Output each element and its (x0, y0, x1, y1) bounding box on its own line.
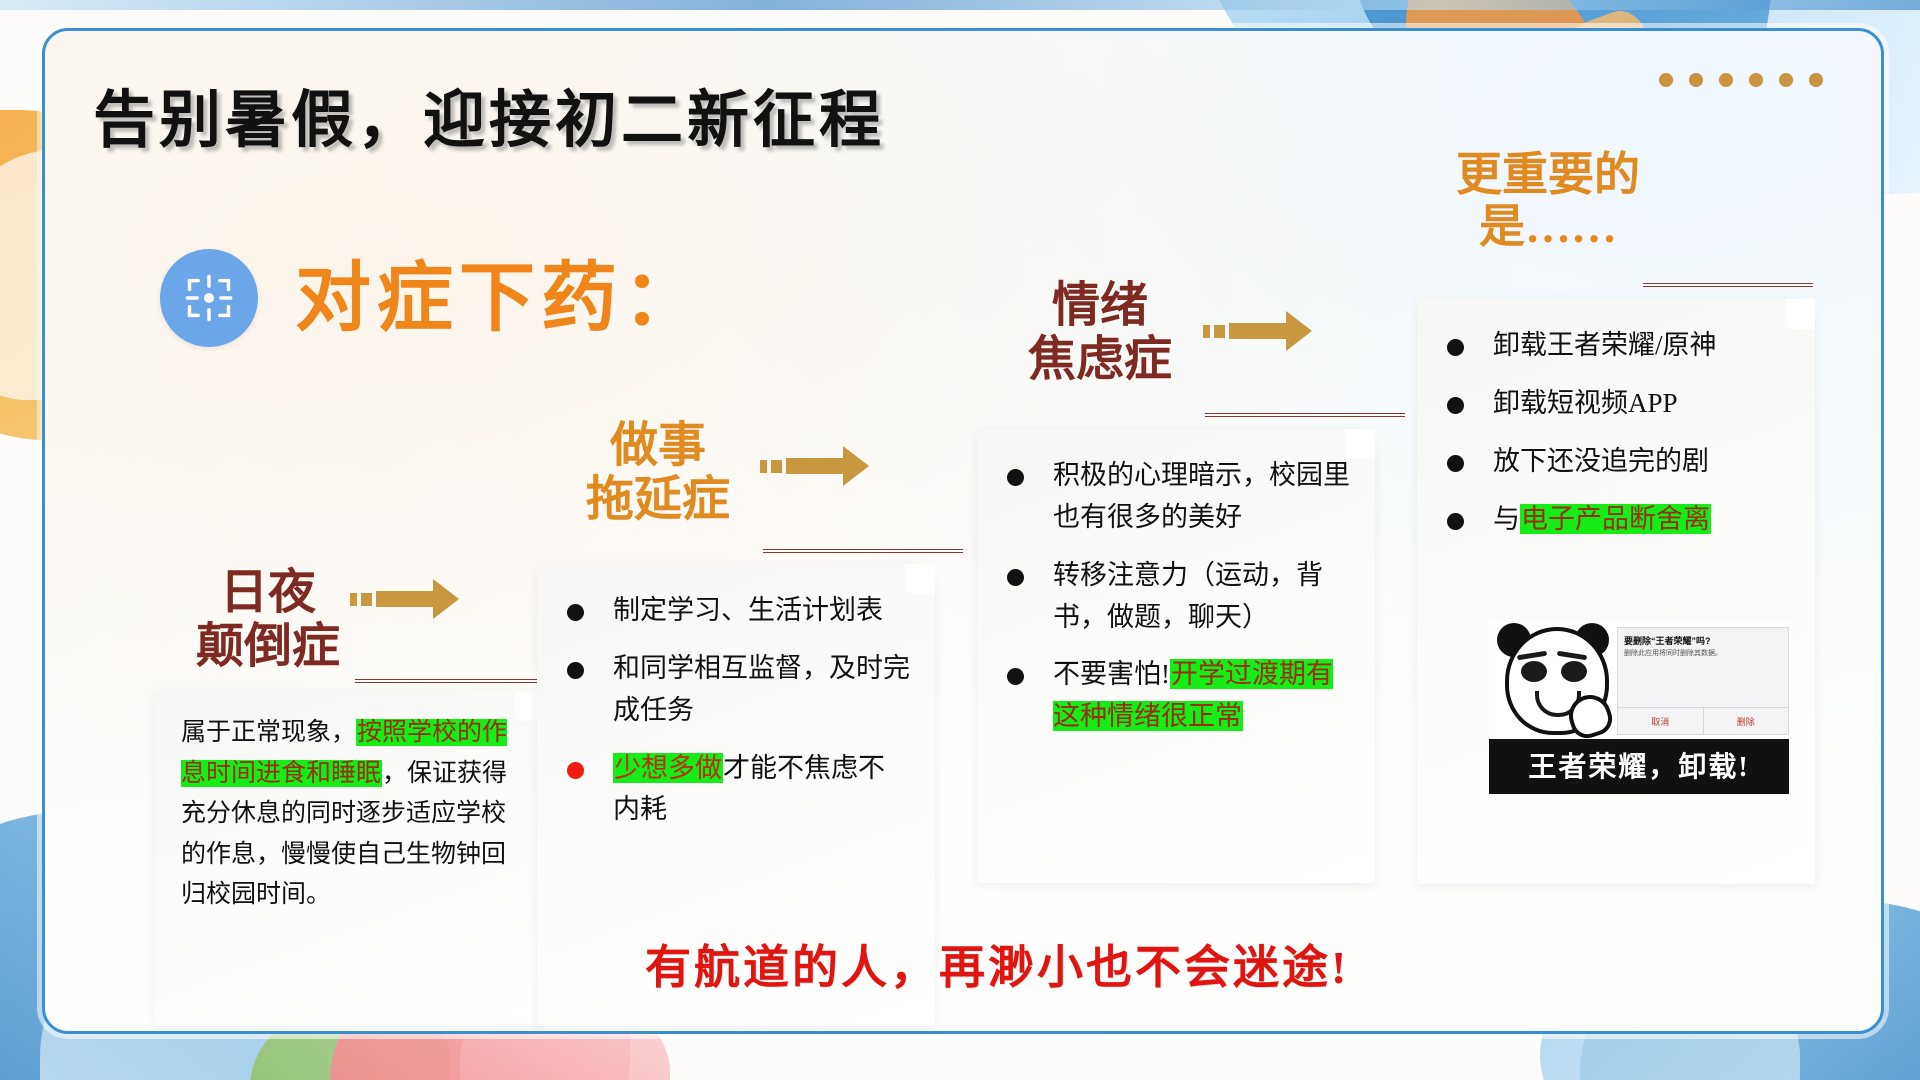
list-item: 制定学习、生活计划表 (559, 590, 911, 632)
card-4-bullet-1-text: 卸载王者荣耀/原神 (1493, 330, 1717, 360)
focus-target-icon (160, 249, 258, 347)
list-item: 转移注意力（运动，背书，做题，聊天） (999, 555, 1351, 639)
dot-icon (1689, 73, 1703, 87)
card-4-bullet-4-text: 与 (1493, 504, 1520, 534)
delete-button[interactable]: 删除 (1703, 708, 1789, 734)
panda-face-icon (1495, 621, 1611, 739)
card-3-bullet-list: 积极的心理暗示，校园里也有很多的美好 转移注意力（运动，背书，做题，聊天） 不要… (999, 455, 1351, 754)
card-2-bullet-2-text: 和同学相互监督，及时完成任务 (613, 653, 910, 725)
panda-meme-image: 要删除“王者荣耀”吗? 删除此应用将同时删除其数据。 取消 删除 王者荣耀，卸载… (1489, 621, 1789, 786)
card-2-heading-line1: 做事 (543, 419, 773, 473)
card-3-rule (1205, 413, 1405, 417)
card-4-heading: 更重要的 是…… (1423, 149, 1673, 252)
list-item: 和同学相互监督，及时完成任务 (559, 648, 911, 732)
section-heading: 对症下药： (295, 236, 705, 346)
page-title: 告别暑假，迎接初二新征程 (93, 69, 885, 159)
card-2-bullet-3-highlight: 少想多做 (613, 753, 723, 783)
delete-dialog: 要删除“王者荣耀”吗? 删除此应用将同时删除其数据。 取消 删除 (1617, 627, 1789, 735)
card-2-bullet-1-text: 制定学习、生活计划表 (613, 595, 883, 625)
card-2-rule (763, 549, 963, 553)
card-1-arrow-icon (350, 579, 459, 619)
list-item: 与电子产品断舍离 (1439, 499, 1797, 541)
card-3-heading-line2: 焦虑症 (985, 333, 1215, 387)
list-item: 积极的心理暗示，校园里也有很多的美好 (999, 455, 1351, 539)
list-item: 不要害怕!开学过渡期有这种情绪很正常 (999, 654, 1351, 738)
card-1-heading-line1: 日夜 (163, 566, 373, 620)
dot-icon (1659, 73, 1673, 87)
card-3-bullet-3-text: 不要害怕! (1053, 659, 1170, 689)
card-4: 卸载王者荣耀/原神 卸载短视频APP 放下还没追完的剧 与电子产品断舍离 (1417, 299, 1815, 884)
meme-top-row: 要删除“王者荣耀”吗? 删除此应用将同时删除其数据。 取消 删除 (1489, 621, 1789, 739)
dot-icon (1719, 73, 1733, 87)
list-item: 卸载王者荣耀/原神 (1439, 325, 1797, 367)
card-4-heading-line1: 更重要的 (1423, 149, 1673, 201)
card-4-bullet-4-highlight: 电子产品断舍离 (1520, 504, 1711, 534)
card-1-body: 属于正常现象，按照学校的作息时间进食和睡眠，保证获得充分休息的同时逐步适应学校的… (181, 713, 521, 916)
slide-panel: 告别暑假，迎接初二新征程 对症下药： 日夜 颠倒症 属于正常现象，按照学校的作息… (42, 28, 1884, 1034)
card-3-bullet-2-text: 转移注意力（运动，背书，做题，聊天） (1053, 560, 1323, 632)
card-4-rule (1643, 283, 1813, 287)
dot-icon (1779, 73, 1793, 87)
card-2-heading-line2: 拖延症 (543, 473, 773, 527)
decorative-dots (1659, 73, 1823, 87)
delete-dialog-buttons: 取消 删除 (1618, 707, 1788, 734)
card-2-bullet-list: 制定学习、生活计划表 和同学相互监督，及时完成任务 少想多做才能不焦虑不内耗 (559, 590, 911, 847)
list-item: 放下还没追完的剧 (1439, 441, 1797, 483)
bottom-slogan: 有航道的人，再渺小也不会迷途! (645, 931, 1349, 997)
card-4-bullet-list: 卸载王者荣耀/原神 卸载短视频APP 放下还没追完的剧 与电子产品断舍离 (1439, 325, 1797, 556)
panda-eye-left (1521, 661, 1547, 682)
list-item: 少想多做才能不焦虑不内耗 (559, 748, 911, 832)
dot-icon (1749, 73, 1763, 87)
card-3-heading-line1: 情绪 (985, 279, 1215, 333)
meme-caption: 王者荣耀，卸载! (1489, 739, 1789, 794)
delete-dialog-title: 要删除“王者荣耀”吗? (1618, 628, 1788, 649)
delete-dialog-subtitle: 删除此应用将同时删除其数据。 (1618, 649, 1788, 658)
cancel-button[interactable]: 取消 (1618, 708, 1703, 734)
card-1-body-prefix: 属于正常现象， (181, 719, 356, 746)
bg-top-stripe (0, 0, 1920, 10)
card-1-heading-line2: 颠倒症 (163, 620, 373, 674)
card-1-rule (355, 679, 555, 683)
card-4-heading-line2: 是…… (1423, 201, 1673, 253)
card-2-arrow-icon (760, 446, 869, 486)
card-2-heading: 做事 拖延症 (543, 419, 773, 527)
card-3-arrow-icon (1203, 311, 1312, 351)
card-4-bullet-3-text: 放下还没追完的剧 (1493, 446, 1709, 476)
card-3-bullet-1-text: 积极的心理暗示，校园里也有很多的美好 (1053, 460, 1350, 532)
card-4-bullet-2-text: 卸载短视频APP (1493, 388, 1678, 418)
card-3: 积极的心理暗示，校园里也有很多的美好 转移注意力（运动，背书，做题，聊天） 不要… (977, 429, 1375, 883)
dot-icon (1809, 73, 1823, 87)
card-3-heading: 情绪 焦虑症 (985, 279, 1215, 387)
list-item: 卸载短视频APP (1439, 383, 1797, 425)
panda-eye-right (1561, 661, 1587, 682)
card-1-heading: 日夜 颠倒症 (163, 566, 373, 674)
card-1: 属于正常现象，按照学校的作息时间进食和睡眠，保证获得充分休息的同时逐步适应学校的… (155, 691, 545, 1026)
